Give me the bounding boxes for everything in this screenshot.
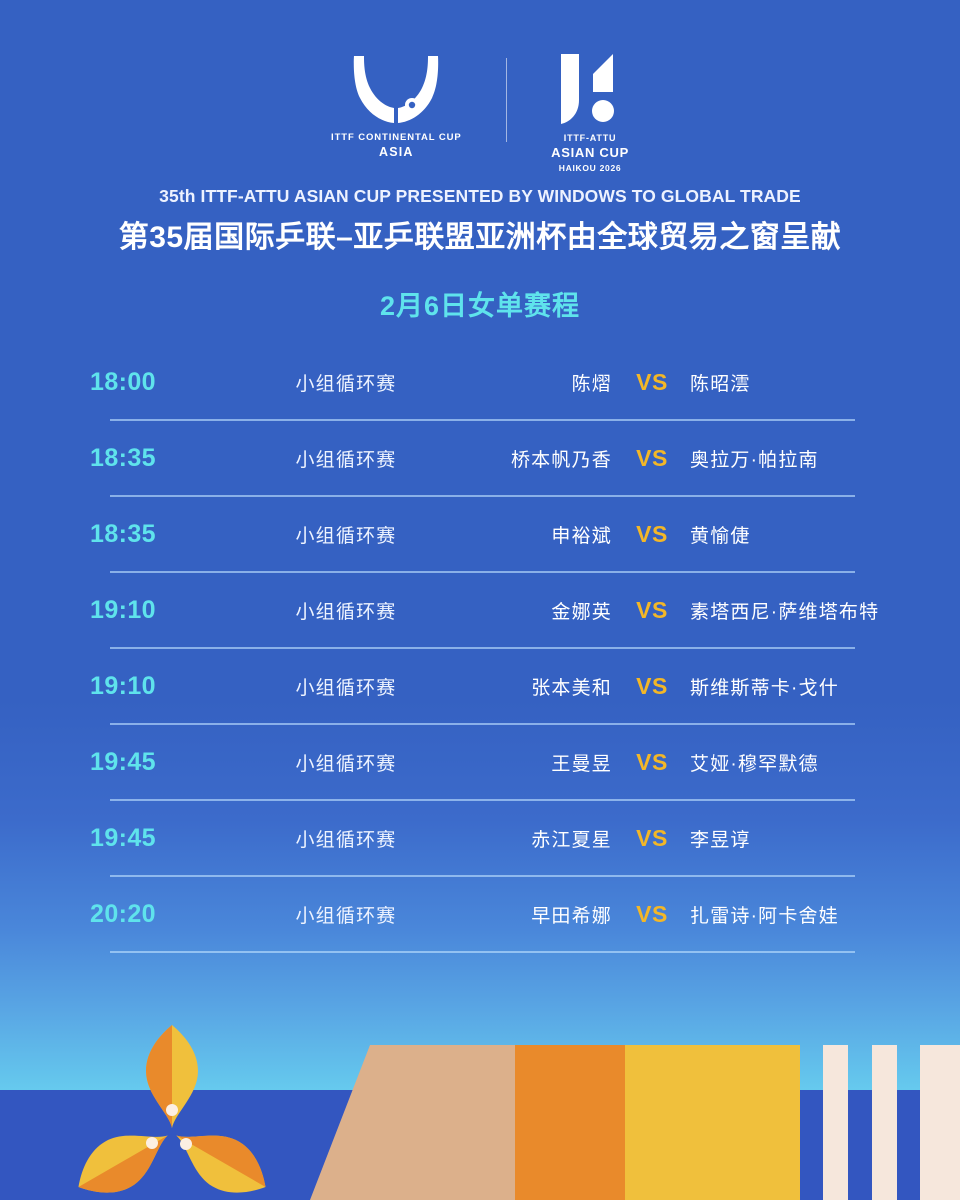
versus-label: VS xyxy=(616,369,688,396)
versus-label: VS xyxy=(616,825,688,852)
match-time: 20:20 xyxy=(0,900,246,929)
match-time: 19:10 xyxy=(0,672,246,701)
match-stage: 小组循环赛 xyxy=(246,445,446,472)
versus-label: VS xyxy=(616,749,688,776)
player-one-name: 陈熠 xyxy=(446,369,616,396)
match-time: 18:35 xyxy=(0,444,246,473)
player-two-name: 扎雷诗·阿卡舍娃 xyxy=(688,901,960,928)
bottom-decoration xyxy=(0,1015,960,1200)
bauhinia-flower-icon xyxy=(65,1025,278,1200)
match-time: 18:35 xyxy=(0,520,246,549)
match-time: 19:45 xyxy=(0,824,246,853)
match-time: 18:00 xyxy=(0,368,246,397)
player-one-name: 申裕斌 xyxy=(446,521,616,548)
page-subtitle: 2月6日女单赛程 xyxy=(0,284,960,323)
ittf-attu-asian-cup-haikou-icon xyxy=(557,52,623,128)
player-two-name: 斯维斯蒂卡·戈什 xyxy=(688,673,960,700)
table-row[interactable]: 18:35小组循环赛桥本帆乃香VS奥拉万·帕拉南 xyxy=(0,420,960,496)
match-stage: 小组循环赛 xyxy=(246,901,446,928)
player-one-name: 桥本帆乃香 xyxy=(446,445,616,472)
title-chinese: 第35届国际乒联–亚乒联盟亚洲杯由全球贸易之窗呈献 xyxy=(0,212,960,256)
player-two-name: 素塔西尼·萨维塔布特 xyxy=(688,597,960,624)
logo-right-caption-line1: ITTF-ATTU xyxy=(564,133,617,144)
table-row[interactable]: 18:35小组循环赛申裕斌VS黄愉倢 xyxy=(0,496,960,572)
player-one-name: 金娜英 xyxy=(446,597,616,624)
ittf-continental-cup-asia-icon xyxy=(348,52,444,128)
player-two-name: 艾娅·穆罕默德 xyxy=(688,749,960,776)
table-row[interactable]: 18:00小组循环赛陈熠VS陈昭澐 xyxy=(0,344,960,420)
logo-right-caption-line3: HAIKOU 2026 xyxy=(559,163,622,173)
table-row[interactable]: 19:10小组循环赛金娜英VS素塔西尼·萨维塔布特 xyxy=(0,572,960,648)
title-english: 35th ITTF-ATTU ASIAN CUP PRESENTED BY WI… xyxy=(0,186,960,207)
match-stage: 小组循环赛 xyxy=(246,749,446,776)
table-row[interactable]: 19:45小组循环赛王曼昱VS艾娅·穆罕默德 xyxy=(0,724,960,800)
logo-ittf-continental-cup-asia: ITTF CONTINENTAL CUP ASIA xyxy=(331,52,462,160)
match-stage: 小组循环赛 xyxy=(246,673,446,700)
versus-label: VS xyxy=(616,901,688,928)
header-logos: ITTF CONTINENTAL CUP ASIA ITTF-ATTU ASIA… xyxy=(0,52,960,164)
logo-divider xyxy=(506,58,508,142)
match-time: 19:10 xyxy=(0,596,246,625)
versus-label: VS xyxy=(616,673,688,700)
player-two-name: 陈昭澐 xyxy=(688,369,960,396)
sand-ramp-shape xyxy=(310,1045,540,1200)
table-row[interactable]: 19:45小组循环赛赤江夏星VS李昱谆 xyxy=(0,800,960,876)
player-two-name: 李昱谆 xyxy=(688,825,960,852)
match-time: 19:45 xyxy=(0,748,246,777)
cream-stripe-3 xyxy=(920,1045,960,1200)
table-row[interactable]: 19:10小组循环赛张本美和VS斯维斯蒂卡·戈什 xyxy=(0,648,960,724)
cream-stripe-2 xyxy=(872,1045,897,1200)
versus-label: VS xyxy=(616,445,688,472)
match-stage: 小组循环赛 xyxy=(246,825,446,852)
player-two-name: 黄愉倢 xyxy=(688,521,960,548)
match-stage: 小组循环赛 xyxy=(246,521,446,548)
logo-ittf-attu-asian-cup: ITTF-ATTU ASIAN CUP HAIKOU 2026 xyxy=(551,52,629,173)
match-stage: 小组循环赛 xyxy=(246,597,446,624)
player-one-name: 王曼昱 xyxy=(446,749,616,776)
row-divider xyxy=(110,951,855,953)
logo-right-caption-line2: ASIAN CUP xyxy=(551,145,629,161)
match-stage: 小组循环赛 xyxy=(246,369,446,396)
player-one-name: 赤江夏星 xyxy=(446,825,616,852)
versus-label: VS xyxy=(616,521,688,548)
table-row[interactable]: 20:20小组循环赛早田希娜VS扎雷诗·阿卡舍娃 xyxy=(0,876,960,952)
player-one-name: 早田希娜 xyxy=(446,901,616,928)
schedule-list: 18:00小组循环赛陈熠VS陈昭澐18:35小组循环赛桥本帆乃香VS奥拉万·帕拉… xyxy=(0,344,960,952)
logo-left-caption-line2: ASIA xyxy=(379,145,414,160)
cream-stripe-1 xyxy=(823,1045,848,1200)
player-two-name: 奥拉万·帕拉南 xyxy=(688,445,960,472)
logo-left-caption-line1: ITTF CONTINENTAL CUP xyxy=(331,132,462,144)
player-one-name: 张本美和 xyxy=(446,673,616,700)
versus-label: VS xyxy=(616,597,688,624)
orange-bar-shape xyxy=(515,1045,625,1200)
gold-bar-shape xyxy=(625,1045,800,1200)
